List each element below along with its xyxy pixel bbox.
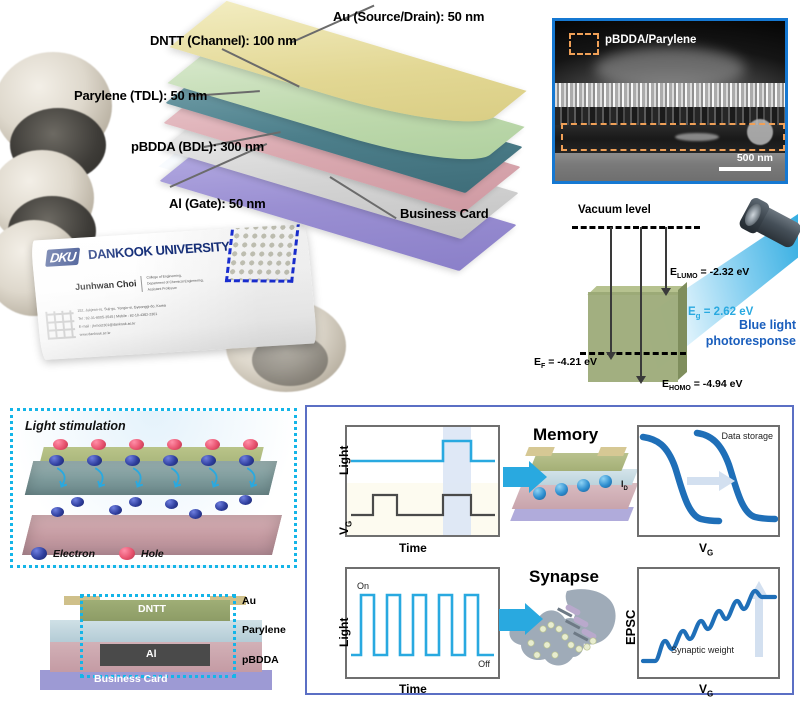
- epsc-axis-label: EPSC: [623, 610, 638, 645]
- sem-legend-swatch: [569, 33, 599, 55]
- energy-band-diagram: Vacuum level ELUMO = -2.32 eV Eg = 2.62 …: [530, 196, 800, 396]
- fermi-subscript: F: [541, 363, 545, 370]
- memory-trapped-electron: [577, 479, 590, 492]
- card-person-name: Junhwan Choi: [75, 278, 137, 292]
- trapped-electron: [51, 507, 64, 517]
- card-department-2: Department of Chemical Engineering,: [147, 278, 204, 287]
- synapse-epsc-plot: Synaptic weight: [637, 567, 780, 679]
- xs-label-pbdda: pBDDA: [242, 654, 279, 666]
- sem-cross-section-panel: pBDDA/Parylene 500 nm: [552, 18, 788, 184]
- memory-shift-arrow: [687, 471, 735, 491]
- memory-dev-au-source: [525, 447, 555, 456]
- device-cross-section: Au Parylene pBDDA DNTT Al Business Card: [28, 578, 288, 694]
- memory-vg-x-subscript: G: [707, 548, 713, 557]
- layer-au-source-drain: [198, 14, 498, 124]
- dku-logo: DKU: [45, 248, 80, 267]
- synapse-neuron-illustration: [503, 585, 635, 679]
- hole-particle: [167, 439, 182, 450]
- neuron-graphic: [503, 585, 635, 679]
- legend-hole-swatch: [119, 547, 135, 560]
- memory-vg-x-axis-label: VG: [699, 541, 713, 557]
- card-phone: Tel : 82-31-8005-3545 | Mobile : 82-10-4…: [78, 311, 158, 322]
- synapse-flow-arrow-head: [525, 603, 543, 635]
- memory-time-axis-label: Time: [399, 541, 427, 555]
- sem-top-film: [555, 83, 785, 107]
- homo-arrow: [640, 227, 642, 377]
- memory-synapse-panel: Memory Light VG Time ID: [305, 405, 794, 695]
- legend-hole-label: Hole: [141, 548, 164, 560]
- synaptic-weight-annotation: Synaptic weight: [671, 645, 734, 655]
- light-stimulation-title: Light stimulation: [25, 419, 126, 433]
- memory-dev-au-drain: [597, 447, 627, 456]
- fermi-level-line: [580, 352, 686, 355]
- lumo-subscript: LUMO: [677, 273, 698, 280]
- photoresponse-line-1: Blue light: [696, 318, 796, 332]
- sem-scale-label: 500 nm: [737, 152, 773, 164]
- synapse-light-axis-label: Light: [337, 618, 351, 647]
- synapse-pulse-plot: On Off: [345, 567, 500, 679]
- hole-particle: [53, 439, 68, 450]
- card-email: E-mail : jhchoi2301@dankook.ac.kr: [79, 320, 136, 330]
- label-parylene: Parylene (TDL): 50 nm: [74, 88, 207, 103]
- hole-particle: [129, 439, 144, 450]
- legend-electron-label: Electron: [53, 548, 95, 560]
- synapse-off-label: Off: [478, 659, 490, 669]
- figure-root: DKU DANKOOK UNIVERSITY Junhwan Choi Coll…: [0, 0, 800, 704]
- lumo-label: ELUMO = -2.32 eV: [670, 266, 749, 280]
- synapse-time-axis-label: Time: [399, 682, 427, 696]
- trapped-electron: [71, 497, 84, 507]
- trapped-electron: [165, 499, 178, 509]
- synapse-pulse-train: [347, 569, 498, 677]
- fermi-value: = -4.21 eV: [548, 356, 597, 368]
- homo-label: EHOMO = -4.94 eV: [662, 378, 742, 392]
- trapped-electron: [239, 495, 252, 505]
- label-business-card: Business Card: [400, 206, 488, 221]
- memory-hysteresis-curves: [639, 427, 778, 535]
- memory-vg-subscript: G: [344, 521, 353, 527]
- memory-waveforms: [347, 427, 498, 535]
- fermi-label: EF = -4.21 eV: [534, 356, 597, 370]
- synapse-title: Synapse: [529, 567, 599, 587]
- homo-subscript: HOMO: [669, 385, 691, 392]
- label-au: Au (Source/Drain): 50 nm: [333, 9, 484, 24]
- trapped-electron: [109, 505, 122, 515]
- legend-electron-swatch: [31, 547, 47, 560]
- photoresponse-line-2: photoresponse: [682, 334, 796, 348]
- sem-caption: pBDDA/Parylene: [605, 34, 696, 46]
- card-department-3: Assistant Professor: [147, 286, 177, 293]
- sem-highlight-box: [561, 123, 785, 151]
- hole-particle: [243, 439, 258, 450]
- memory-flow-arrow-shaft: [503, 467, 529, 487]
- trapped-electron: [129, 497, 142, 507]
- band-box-side-face: [678, 282, 687, 380]
- memory-transfer-plot: Data storage: [637, 425, 780, 537]
- homo-value: = -4.94 eV: [694, 378, 743, 390]
- memory-data-storage-annotation: Data storage: [721, 431, 773, 441]
- card-website: www.dankook.ac.kr: [79, 330, 111, 339]
- memory-current-label: ID: [621, 479, 628, 492]
- label-al: Al (Gate): 50 nm: [169, 196, 265, 211]
- memory-title: Memory: [533, 425, 598, 445]
- card-divider: [140, 276, 143, 292]
- hole-particle: [91, 439, 106, 450]
- xs-label-parylene: Parylene: [242, 624, 286, 636]
- xs-label-business-card: Business Card: [94, 673, 168, 685]
- hole-particle: [205, 439, 220, 450]
- label-pbdda: pBDDA (BDL): 300 nm: [131, 139, 264, 154]
- memory-vg-axis-label: VG: [337, 521, 353, 535]
- card-qr-code: [45, 310, 76, 340]
- xs-label-dntt: DNTT: [138, 603, 166, 615]
- memory-pulse-plot: [345, 425, 500, 537]
- memory-trapped-electron: [555, 483, 568, 496]
- vacuum-level-label: Vacuum level: [578, 204, 651, 216]
- trapped-electron: [215, 501, 228, 511]
- memory-device-illustration: ID: [503, 447, 635, 533]
- synapse-flow-arrow-shaft: [499, 609, 525, 631]
- xs-label-al: Al: [146, 648, 157, 660]
- synapse-potentiation-curve: [639, 569, 778, 677]
- synapse-vg-axis-label: VG: [699, 682, 713, 698]
- synapse-vg-subscript: G: [707, 689, 713, 698]
- memory-flow-arrow-head: [529, 461, 547, 493]
- memory-dev-card: [510, 507, 634, 521]
- exploded-stack-panel: DKU DANKOOK UNIVERSITY Junhwan Choi Coll…: [0, 0, 530, 395]
- synapse-on-label: On: [357, 581, 369, 591]
- label-dntt: DNTT (Channel): 100 nm: [150, 33, 297, 48]
- fermi-arrow: [610, 227, 612, 353]
- lumo-arrow: [665, 227, 667, 289]
- card-department-1: College of Engineering,: [146, 274, 182, 281]
- bandgap-value: = 2.62 eV: [704, 306, 754, 318]
- memory-light-axis-label: Light: [337, 446, 351, 475]
- memory-trapped-electron: [599, 475, 612, 488]
- light-stimulation-panel: Light stimulation ⤵ ⤵ ⤵ ⤵ ⤵ ⤵: [10, 408, 297, 568]
- lumo-value: = -2.32 eV: [701, 266, 750, 278]
- trapped-electron: [189, 509, 202, 519]
- band-box-front-face: [588, 292, 678, 382]
- sem-scale-bar: [719, 167, 771, 171]
- card-address: 152, Jukjeon-ro, Suji-gu, Yongin-si, Gye…: [77, 303, 166, 315]
- vacuum-level-line: [572, 226, 700, 229]
- xs-label-au: Au: [242, 595, 256, 607]
